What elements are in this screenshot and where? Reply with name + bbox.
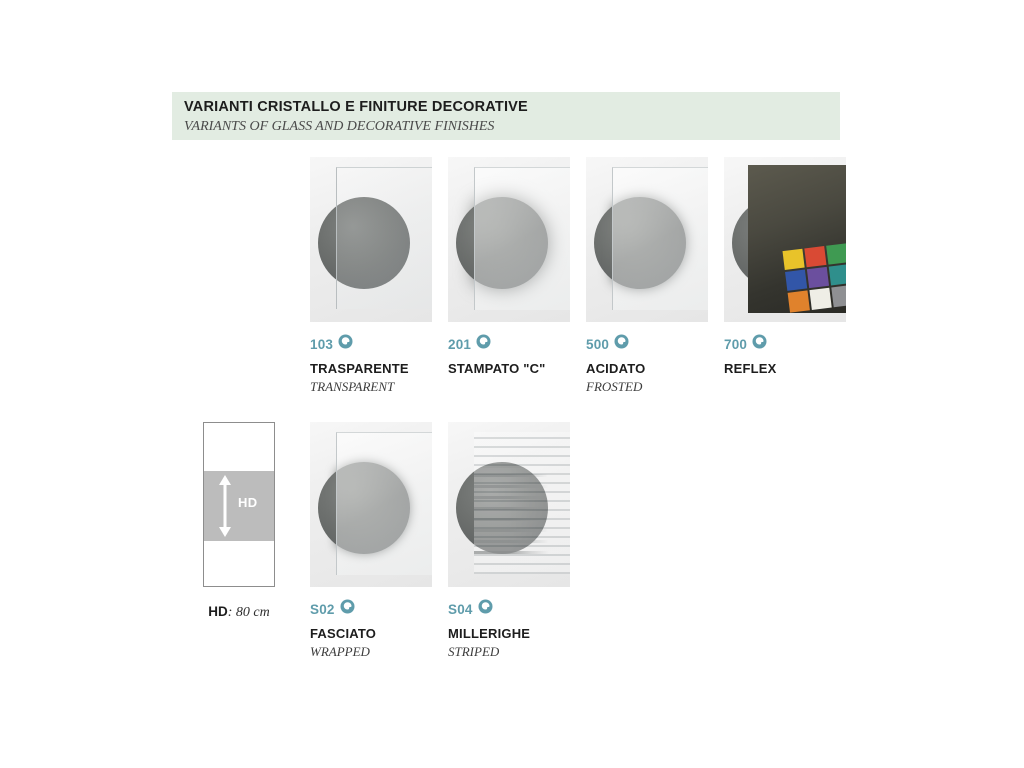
glass-pane-striped xyxy=(474,432,570,574)
glass-pane-transparent xyxy=(336,167,432,309)
sample-card-700[interactable]: 700 REFLEX xyxy=(724,157,846,379)
glass-variants-row-2: S02 FASCIATO WRAPPED S04 xyxy=(310,422,586,660)
sample-photo-frosted xyxy=(586,157,708,322)
sample-caption: 103 TRASPARENTE TRANSPARENT xyxy=(310,335,432,395)
hd-panel-outline: HD xyxy=(203,422,275,587)
sample-photo-wrapped xyxy=(310,422,432,587)
sample-code: 103 xyxy=(310,337,333,352)
sample-card-s04[interactable]: S04 MILLERIGHE STRIPED xyxy=(448,422,570,660)
colour-checker-reflection xyxy=(782,244,846,313)
sample-photo-reflex xyxy=(724,157,846,322)
sample-card-103[interactable]: 103 TRASPARENTE TRANSPARENT xyxy=(310,157,432,395)
sample-card-500[interactable]: 500 ACIDATO FROSTED xyxy=(586,157,708,395)
sample-name-it: STAMPATO "C" xyxy=(448,361,570,376)
sample-photo-striped xyxy=(448,422,570,587)
code-line: 500 xyxy=(586,335,708,353)
glass-drop-icon xyxy=(338,334,353,354)
sample-name-en: STRIPED xyxy=(448,644,570,660)
sample-name-it: ACIDATO xyxy=(586,361,708,376)
glass-pane-frosted xyxy=(612,167,708,310)
sample-code: S02 xyxy=(310,602,335,617)
sample-name-it: REFLEX xyxy=(724,361,846,376)
sample-code: S04 xyxy=(448,602,473,617)
sample-caption: 201 STAMPATO "C" xyxy=(448,335,570,376)
sample-name-en: WRAPPED xyxy=(310,644,432,660)
code-line: S02 xyxy=(310,600,432,618)
sample-name-en: FROSTED xyxy=(586,379,708,395)
checker-swatch xyxy=(785,270,807,291)
checker-swatch xyxy=(788,291,810,312)
sample-caption: S02 FASCIATO WRAPPED xyxy=(310,600,432,660)
hd-double-arrow-icon xyxy=(218,475,232,537)
code-line: S04 xyxy=(448,600,570,618)
checker-swatch xyxy=(782,249,804,270)
checker-swatch xyxy=(807,267,829,288)
glass-pane-stampato-c xyxy=(474,167,570,310)
section-header-band: VARIANTI CRISTALLO E FINITURE DECORATIVE… xyxy=(172,92,840,140)
glass-pane-reflex xyxy=(748,165,846,313)
glass-variants-row-1: 103 TRASPARENTE TRANSPARENT xyxy=(310,157,862,395)
sample-card-s02[interactable]: S02 FASCIATO WRAPPED xyxy=(310,422,432,660)
sample-code: 201 xyxy=(448,337,471,352)
checker-swatch xyxy=(831,286,846,307)
sample-code: 700 xyxy=(724,337,747,352)
checker-swatch xyxy=(809,289,831,310)
sample-photo-transparent xyxy=(310,157,432,322)
glass-drop-icon xyxy=(478,599,493,619)
sample-name-it: TRASPARENTE xyxy=(310,361,432,376)
checker-swatch xyxy=(804,246,826,267)
page-title: VARIANTI CRISTALLO E FINITURE DECORATIVE xyxy=(184,98,840,116)
sample-name-en: TRANSPARENT xyxy=(310,379,432,395)
page-subtitle: VARIANTS OF GLASS AND DECORATIVE FINISHE… xyxy=(184,118,840,136)
checker-swatch xyxy=(829,265,846,286)
checker-swatch xyxy=(826,244,846,265)
code-line: 700 xyxy=(724,335,846,353)
hd-caption-value: : 80 cm xyxy=(228,605,270,620)
glass-drop-icon xyxy=(476,334,491,354)
glass-drop-icon xyxy=(752,334,767,354)
sample-caption: S04 MILLERIGHE STRIPED xyxy=(448,600,570,660)
sample-photo-stampato-c xyxy=(448,157,570,322)
sample-code: 500 xyxy=(586,337,609,352)
hd-band-label: HD xyxy=(238,495,257,510)
hd-dimension-diagram: HD HD: 80 cm xyxy=(183,422,295,621)
sample-name-it: MILLERIGHE xyxy=(448,626,570,641)
glass-drop-icon xyxy=(614,334,629,354)
sample-caption: 500 ACIDATO FROSTED xyxy=(586,335,708,395)
sample-name-it: FASCIATO xyxy=(310,626,432,641)
glass-drop-icon xyxy=(340,599,355,619)
code-line: 103 xyxy=(310,335,432,353)
hd-caption-key: HD xyxy=(208,604,228,619)
hd-caption: HD: 80 cm xyxy=(183,603,295,621)
sample-card-201[interactable]: 201 STAMPATO "C" xyxy=(448,157,570,379)
glass-pane-wrapped xyxy=(336,432,432,575)
code-line: 201 xyxy=(448,335,570,353)
sample-caption: 700 REFLEX xyxy=(724,335,846,376)
